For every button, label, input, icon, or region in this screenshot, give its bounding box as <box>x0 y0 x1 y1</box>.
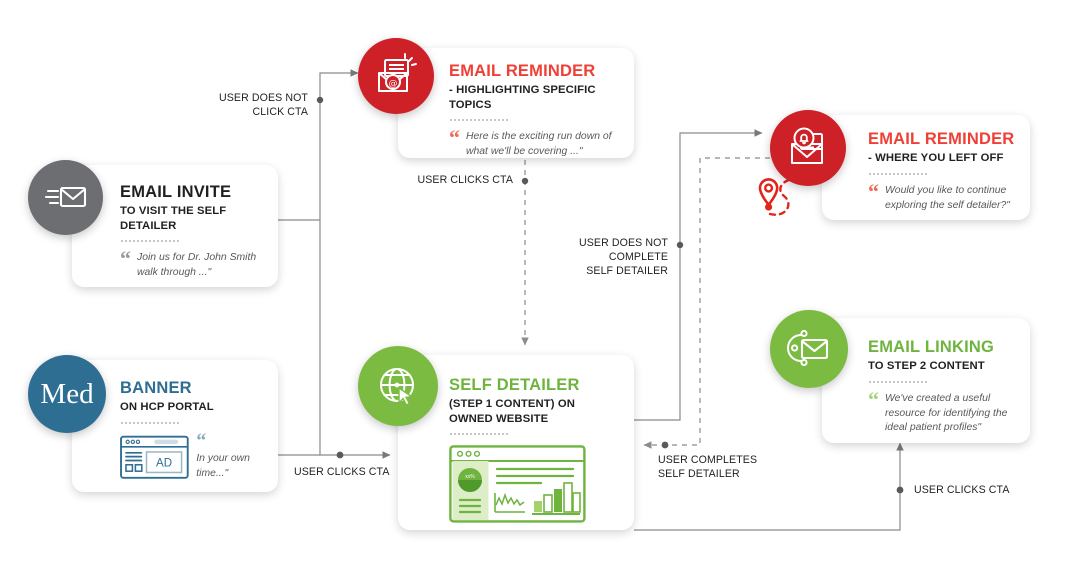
journey-flow-diagram: USER DOES NOT CLICK CTA USER CLICKS CTA … <box>0 0 1080 587</box>
label-user-clicks-cta-linking: USER CLICKS CTA <box>914 484 1054 498</box>
card-email-reminder-left-off[interactable]: EMAIL REMINDER - WHERE YOU LEFT OFF “ Wo… <box>822 115 1030 220</box>
banner-subtitle: ON HCP PORTAL <box>120 400 272 414</box>
email-reminder-left-off-quote: “ Would you like to continue exploring t… <box>868 184 1023 214</box>
dot-completes <box>662 442 669 449</box>
label-user-clicks-cta-banner: USER CLICKS CTA <box>294 466 434 480</box>
svg-text:@: @ <box>389 79 398 89</box>
email-linking-subtitle: TO STEP 2 CONTENT <box>868 359 1026 373</box>
label-line: USER CLICKS CTA <box>385 174 513 188</box>
quote-text: Join us for Dr. John Smith walk through … <box>137 251 270 281</box>
quote-mark-icon: “ <box>868 184 879 201</box>
self-detailer-title: SELF DETAILER <box>449 377 621 394</box>
quote-mark-icon: “ <box>868 392 879 409</box>
label-line: USER DOES NOT <box>540 237 668 251</box>
dot-clicks-cta-banner <box>337 452 344 459</box>
email-reminder-topics-title: EMAIL REMINDER <box>449 63 624 80</box>
svg-text:xx%: xx% <box>465 474 475 480</box>
label-line: USER DOES NOT <box>180 92 308 106</box>
med-logo: Med <box>28 355 106 433</box>
email-reminder-left-off-subtitle: - WHERE YOU LEFT OFF <box>868 151 1023 165</box>
quote-mark-icon: “ <box>120 251 131 268</box>
quote-mark-icon: “ <box>449 130 460 147</box>
globe-cursor-icon <box>358 346 438 426</box>
email-link-icon <box>770 310 848 388</box>
divider-dots <box>449 433 509 435</box>
label-user-does-not-complete: USER DOES NOT COMPLETE SELF DETAILER <box>540 237 668 278</box>
email-invite-quote: “ Join us for Dr. John Smith walk throug… <box>120 251 270 281</box>
label-line: COMPLETE <box>540 251 668 265</box>
email-reminder-topics-quote: “ Here is the exciting run down of what … <box>449 130 624 160</box>
wire-invite-to-reminder <box>320 73 358 220</box>
card-email-linking[interactable]: EMAIL LINKING TO STEP 2 CONTENT “ We've … <box>822 318 1030 443</box>
self-detailer-browser-mockup-icon: xx% <box>449 445 586 523</box>
med-logo-text: Med <box>40 378 93 411</box>
card-email-reminder-topics[interactable]: EMAIL REMINDER - HIGHLIGHTING SPECIFIC T… <box>398 48 634 158</box>
email-alert-icon: @ <box>358 38 434 114</box>
quote-text: Would you like to continue exploring the… <box>885 184 1023 214</box>
quote-text: In your own time..." <box>196 452 272 482</box>
quote-text: We've created a useful resource for iden… <box>885 392 1026 436</box>
dot-clicks-cta-top <box>522 178 528 184</box>
label-line: USER CLICKS CTA <box>914 484 1054 498</box>
divider-dots <box>868 381 928 383</box>
email-linking-title: EMAIL LINKING <box>868 339 1026 356</box>
label-line: USER CLICKS CTA <box>294 466 434 480</box>
quote-text: Here is the exciting run down of what we… <box>466 130 624 160</box>
dot-clicks-cta-linking <box>897 487 904 494</box>
dot-no-click-cta <box>317 97 323 103</box>
banner-ad-mockup-icon: AD <box>120 432 189 483</box>
divider-dots <box>449 119 509 121</box>
card-email-invite[interactable]: EMAIL INVITE TO VISIT THE SELF DETAILER … <box>72 165 278 287</box>
label-user-does-not-click-cta: USER DOES NOT CLICK CTA <box>180 92 308 120</box>
banner-ad-label: AD <box>156 457 172 469</box>
label-line: SELF DETAILER <box>540 265 668 279</box>
quote-mark-icon: “ <box>196 432 272 450</box>
self-detailer-subtitle: (STEP 1 CONTENT) ON OWNED WEBSITE <box>449 397 621 426</box>
email-invite-subtitle: TO VISIT THE SELF DETAILER <box>120 204 270 233</box>
email-linking-quote: “ We've created a useful resource for id… <box>868 392 1026 436</box>
divider-dots <box>120 422 180 424</box>
divider-dots <box>120 240 180 242</box>
label-user-completes-self-detailer: USER COMPLETES SELF DETAILER <box>658 454 818 482</box>
label-line: SELF DETAILER <box>658 468 818 482</box>
divider-dots <box>868 173 928 175</box>
label-user-clicks-cta-top: USER CLICKS CTA <box>385 174 513 188</box>
label-line: CLICK CTA <box>180 106 308 120</box>
email-invite-title: EMAIL INVITE <box>120 184 270 201</box>
dot-no-complete <box>677 242 683 248</box>
label-line: USER COMPLETES <box>658 454 818 468</box>
banner-title: BANNER <box>120 380 272 397</box>
email-bell-icon <box>770 110 846 186</box>
email-reminder-left-off-title: EMAIL REMINDER <box>868 131 1023 148</box>
email-reminder-topics-subtitle: - HIGHLIGHTING SPECIFIC TOPICS <box>449 83 624 112</box>
email-send-icon <box>28 160 103 235</box>
